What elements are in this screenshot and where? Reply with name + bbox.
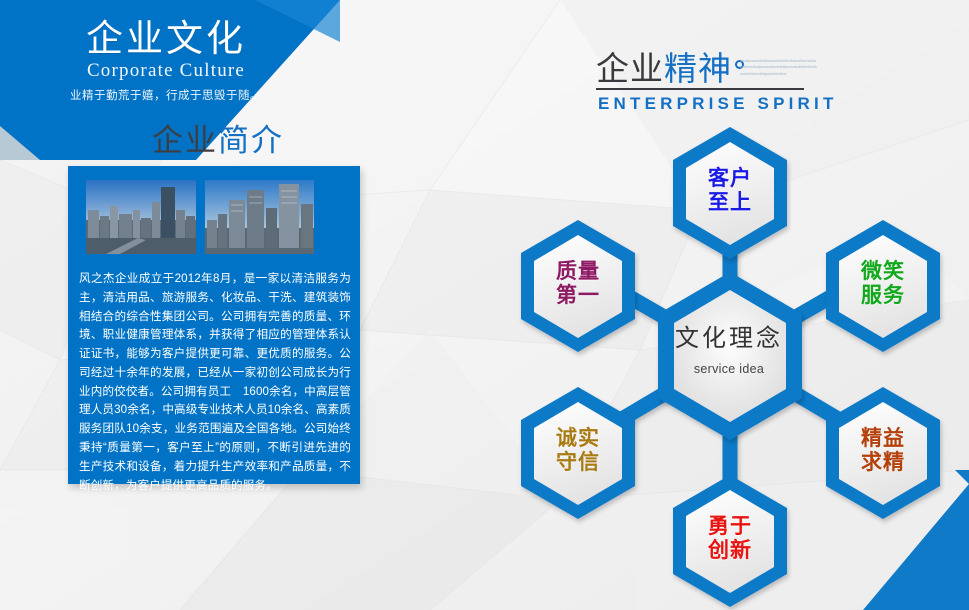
hexagon-center-node[interactable]: 文化理念 service idea bbox=[624, 318, 834, 376]
banner-title-en: Corporate Culture bbox=[36, 60, 296, 82]
heading-underline bbox=[596, 88, 804, 90]
skyscraper-towers-photo bbox=[205, 180, 315, 254]
spirit-title-dark: 企业 bbox=[596, 50, 664, 87]
enterprise-spirit-heading: 企业精神 ENTERPRISE SPIRIT dfsdkjsawsfdsfdkf… bbox=[596, 52, 838, 114]
spirit-title-blue: 精神 bbox=[664, 50, 732, 87]
photo-gallery bbox=[86, 180, 314, 254]
culture-hexagon-diagram: 客户 至上 微笑 服务 精益 求精 勇于 创新 诚实 守信 质量 第一 文化理念… bbox=[490, 110, 969, 610]
center-label-en: service idea bbox=[624, 362, 834, 376]
company-profile-title-blue: 简介 bbox=[218, 123, 284, 158]
enterprise-spirit-title-en: ENTERPRISE SPIRIT bbox=[596, 94, 838, 114]
company-profile-card: 风之杰企业成立于2012年8月，是一家以清洁服务为主，清洁用品、旅游服务、化妆品… bbox=[68, 166, 360, 484]
company-profile-body-text: 风之杰企业成立于2012年8月，是一家以清洁服务为主，清洁用品、旅游服务、化妆品… bbox=[79, 270, 351, 495]
hexagon-node-lower-right[interactable]: 精益 求精 bbox=[827, 427, 939, 475]
hexagon-node-lower-left[interactable]: 诚实 守信 bbox=[522, 427, 634, 475]
slide-canvas: 企业文化 Corporate Culture 业精于勤荒于嬉，行成于思毁于随。 … bbox=[0, 0, 969, 610]
hexagon-node-upper-left[interactable]: 质量 第一 bbox=[522, 260, 634, 308]
center-label-cn: 文化理念 bbox=[624, 318, 834, 353]
banner-text-group: 企业文化 Corporate Culture 业精于勤荒于嬉，行成于思毁于随。 bbox=[36, 18, 296, 103]
company-profile-title-dark: 企业 bbox=[152, 123, 218, 158]
hexagon-node-upper-right[interactable]: 微笑 服务 bbox=[827, 260, 939, 308]
banner-motto: 业精于勤荒于嬉，行成于思毁于随。 bbox=[36, 87, 296, 103]
company-profile-title: 企业简介 bbox=[152, 115, 284, 160]
hexagon-node-bottom[interactable]: 勇于 创新 bbox=[674, 515, 786, 563]
banner-title-cn: 企业文化 bbox=[36, 18, 296, 59]
hexagon-node-top[interactable]: 客户 至上 bbox=[674, 167, 786, 215]
city-skyline-photo bbox=[86, 180, 196, 254]
decorative-filler-text: dfsdkjsawsfdsfdkfswosdkfdfdfsdfsfwafdsof… bbox=[740, 58, 818, 77]
hexagon-label-layer: 客户 至上 微笑 服务 精益 求精 勇于 创新 诚实 守信 质量 第一 文化理念… bbox=[490, 110, 969, 610]
